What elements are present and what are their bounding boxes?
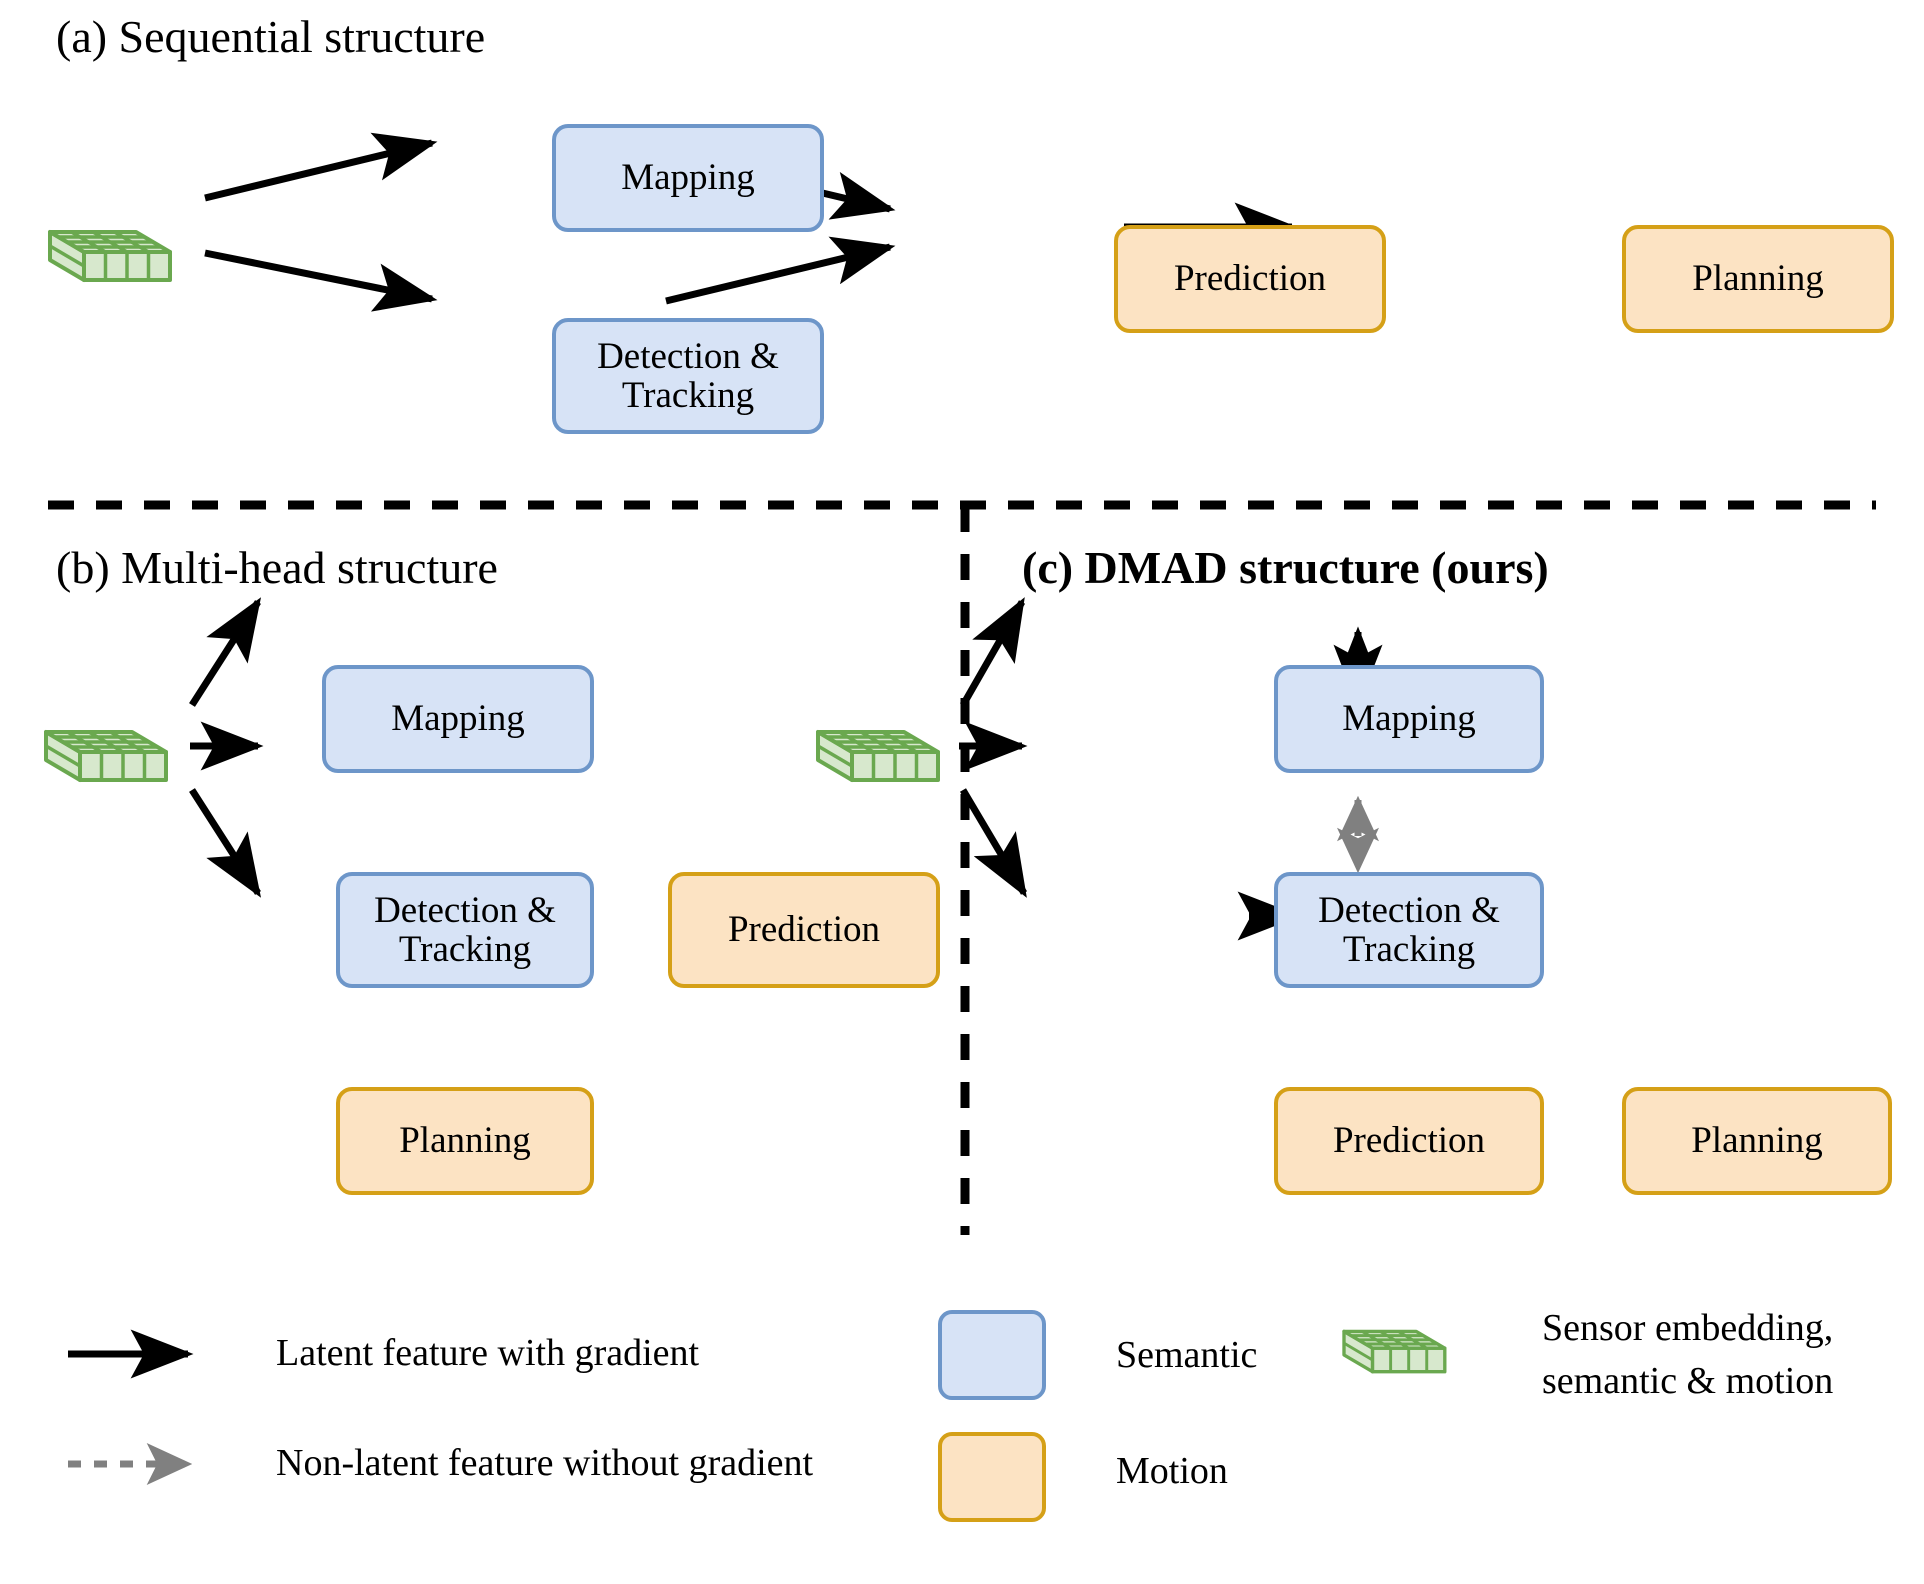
panel-b-title: (b) Multi-head structure	[56, 545, 498, 591]
node-label: Mapping	[621, 158, 755, 197]
sensor-cube-icon-legend	[1344, 1331, 1445, 1371]
node-prediction-a[interactable]: Prediction	[1114, 225, 1386, 333]
node-label-line2: Tracking	[1343, 930, 1475, 969]
edge-sensor-to-planning-b	[192, 790, 258, 893]
node-detection-tracking-b[interactable]: Detection & Tracking	[336, 872, 594, 988]
legend-label-semantic: Semantic	[1116, 1332, 1257, 1380]
node-label-line1: Detection &	[374, 891, 556, 930]
node-label: Planning	[1692, 259, 1824, 298]
node-label-line1: Detection &	[1318, 891, 1500, 930]
node-detection-tracking-c[interactable]: Detection & Tracking	[1274, 872, 1544, 988]
node-label: Planning	[1691, 1121, 1823, 1160]
legend-label-motion: Motion	[1116, 1448, 1228, 1496]
node-prediction-b[interactable]: Prediction	[668, 872, 940, 988]
node-label: Prediction	[728, 910, 880, 949]
node-label: Prediction	[1174, 259, 1326, 298]
node-mapping-b[interactable]: Mapping	[322, 665, 594, 773]
node-label: Planning	[399, 1121, 531, 1160]
node-label: Mapping	[391, 699, 525, 738]
legend-edges	[68, 1354, 188, 1464]
edge-detection-to-prediction-a	[666, 247, 890, 301]
node-label-line2: Tracking	[399, 930, 531, 969]
node-label: Mapping	[1342, 699, 1476, 738]
node-prediction-c[interactable]: Prediction	[1274, 1087, 1544, 1195]
legend-swatch-motion	[938, 1432, 1046, 1522]
figure-canvas: (a) Sequential structure (b) Multi-head …	[0, 0, 1924, 1584]
legend-label-sensor-line2: semantic & motion	[1542, 1358, 1833, 1406]
node-mapping-c[interactable]: Mapping	[1274, 665, 1544, 773]
panel-a-title: (a) Sequential structure	[56, 14, 485, 60]
sensor-cube-icon-a	[50, 232, 170, 280]
legend-label-sensor-line1: Sensor embedding,	[1542, 1305, 1833, 1353]
node-planning-c[interactable]: Planning	[1622, 1087, 1892, 1195]
legend-label-latent: Latent feature with gradient	[276, 1330, 699, 1378]
node-label: Prediction	[1333, 1121, 1485, 1160]
sensor-cube-icon-b	[46, 732, 166, 780]
edge-sensor-to-detection-a	[205, 253, 432, 299]
legend-swatch-semantic	[938, 1310, 1046, 1400]
legend-label-nonlatent: Non-latent feature without gradient	[276, 1440, 813, 1488]
edge-sensor-to-prediction-c	[963, 790, 1024, 893]
panel-c-title: (c) DMAD structure (ours)	[1022, 545, 1549, 591]
node-label-line1: Detection &	[597, 337, 779, 376]
node-label-line2: Tracking	[622, 376, 754, 415]
sensor-cube-icon-c	[818, 732, 938, 780]
node-planning-b[interactable]: Planning	[336, 1087, 594, 1195]
node-mapping-a[interactable]: Mapping	[552, 124, 824, 232]
edge-sensor-to-mapping-a	[205, 143, 432, 198]
edge-sensor-to-mapping-b	[192, 602, 258, 705]
node-detection-tracking-a[interactable]: Detection & Tracking	[552, 318, 824, 434]
edge-sensor-to-mapping-c	[963, 602, 1022, 705]
node-planning-a[interactable]: Planning	[1622, 225, 1894, 333]
